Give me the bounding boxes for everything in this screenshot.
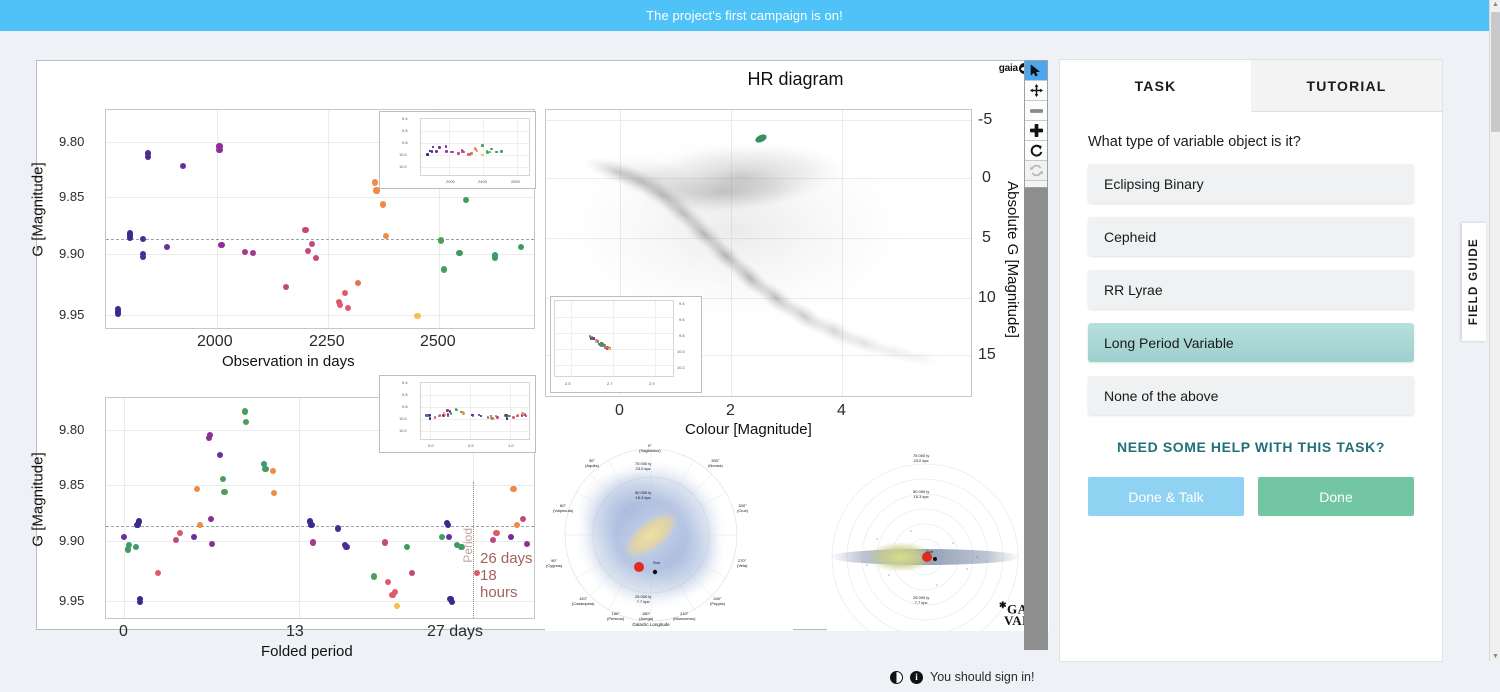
data-point <box>310 539 316 545</box>
answer-option-long-period-variable[interactable]: Long Period Variable <box>1088 323 1414 362</box>
data-point <box>121 534 127 540</box>
done-button[interactable]: Done <box>1258 477 1414 516</box>
data-point <box>490 537 496 543</box>
move-icon <box>1030 84 1043 97</box>
data-point <box>127 235 133 241</box>
data-point <box>207 432 213 438</box>
minus-icon <box>1030 109 1043 113</box>
data-point <box>510 486 516 492</box>
mw-spoke-label-6: 180°(Auriga) <box>639 611 653 621</box>
lightcurve-xtick-1: 2250 <box>309 333 345 351</box>
lightcurve-xtick-2: 2500 <box>420 333 456 351</box>
data-point <box>480 415 482 417</box>
hr-ytick-0: -5 <box>978 111 992 129</box>
data-point <box>431 151 433 153</box>
data-point <box>372 179 378 185</box>
data-point <box>140 236 146 242</box>
done-label: Done <box>1319 489 1352 505</box>
done-and-talk-button[interactable]: Done & Talk <box>1088 477 1244 516</box>
data-point <box>524 541 530 547</box>
data-point <box>500 150 502 152</box>
folded-xtick-0: 0 <box>119 623 128 641</box>
folded-period-plot: G [Magnitude] 9.80 9.85 9.90 9.95 Period… <box>37 361 542 631</box>
data-point <box>434 416 436 418</box>
data-point <box>520 516 526 522</box>
data-point <box>496 416 498 418</box>
zoom-out-button[interactable] <box>1025 101 1047 121</box>
data-point <box>217 452 223 458</box>
data-point <box>445 146 447 148</box>
data-point <box>342 290 348 296</box>
data-point <box>463 197 469 203</box>
data-point <box>451 151 453 153</box>
plus-icon <box>1030 124 1043 137</box>
data-point <box>404 544 410 550</box>
data-point <box>133 544 139 550</box>
mw-spoke-label-3: 90°(Cygnus) <box>546 558 562 568</box>
lightcurve-inset-xtick-1: 2400 <box>478 179 487 184</box>
tab-tutorial-label: TUTORIAL <box>1306 78 1386 94</box>
mw-spoke-label-10: 300°(Crux) <box>737 503 748 513</box>
folded-ytick-2: 9.90 <box>59 533 84 548</box>
data-point <box>383 233 389 239</box>
data-point <box>608 348 611 351</box>
hr-plot-area[interactable]: 9.4 9.6 9.8 10.0 10.2 2.5 2.7 2.9 <box>545 109 972 397</box>
mw-spoke-label-2: 60°(Vulpecula) <box>553 503 573 513</box>
hr-diagram-plot: HR diagram gaia esa <box>542 61 1049 441</box>
data-point <box>493 530 499 536</box>
pan-tool-button[interactable] <box>1025 81 1047 101</box>
data-point <box>343 544 349 550</box>
hr-y-axis-title: Absolute G [Magnitude] <box>1004 181 1021 338</box>
folded-inset-ytick-2: 9.8 <box>402 404 408 409</box>
viewer-toolbar[interactable] <box>1024 60 1048 188</box>
data-point <box>136 518 142 524</box>
data-point <box>414 313 420 319</box>
campaign-banner-text: The project's first campaign is on! <box>646 8 843 23</box>
mw-spoke-label-4: 120°(Cassiopeia) <box>572 596 594 606</box>
data-point <box>457 152 459 154</box>
data-point <box>155 570 161 576</box>
hr-diagram-title: HR diagram <box>542 69 1049 90</box>
data-point <box>432 146 434 148</box>
mw-ring-label-2: 25 000 ly 7.7 kpc <box>635 594 651 604</box>
hr-xtick-0: 0 <box>615 402 624 420</box>
mw-edge-sun-label: Sun <box>926 549 933 554</box>
data-point <box>250 250 256 256</box>
lightcurve-inset: 9.4 9.6 9.8 10.0 10.2 2000 2400 2800 <box>379 111 536 189</box>
data-point <box>218 242 224 248</box>
hr-inset-ytick-2: 9.8 <box>679 333 685 338</box>
tab-task[interactable]: TASK <box>1060 60 1251 112</box>
answer-option-none-of-the-above[interactable]: None of the above <box>1088 376 1414 415</box>
folded-inset-xtick-2: 1.0 <box>508 443 514 448</box>
hr-xtick-2: 4 <box>837 402 846 420</box>
pointer-icon <box>1030 64 1042 77</box>
page-scrollbar[interactable]: ▲ ▼ <box>1489 0 1500 661</box>
data-point <box>490 148 492 150</box>
contrast-icon[interactable] <box>890 671 903 684</box>
subject-viewer[interactable]: G [Magnitude] 9.80 9.85 9.90 9.95 2000 2… <box>36 60 1048 630</box>
data-point <box>392 589 398 595</box>
folded-period-annotation: 26 days 18 hours <box>480 550 534 601</box>
folded-inset-ytick-4: 10.2 <box>399 428 407 433</box>
data-point <box>270 468 276 474</box>
data-point <box>600 343 603 346</box>
mw-spoke-label-0: 0°(Sagittarius) <box>639 443 661 453</box>
data-point <box>441 266 447 272</box>
mw-ring-label-0: 75 000 ly 23.0 kpc <box>635 461 651 471</box>
data-point <box>508 534 514 540</box>
answer-label-1: Cepheid <box>1104 229 1156 245</box>
mw-galactic-longitude-caption: Galactic Longitude <box>625 622 677 627</box>
task-tabs: TASK TUTORIAL <box>1060 60 1442 112</box>
rotate-button[interactable] <box>1025 141 1047 161</box>
folded-x-axis-title: Folded period <box>261 643 353 660</box>
data-point <box>470 152 472 154</box>
folded-inset-ytick-0: 9.4 <box>402 380 408 385</box>
folded-xtick-1: 13 <box>286 623 304 641</box>
data-point <box>514 522 520 528</box>
mw-sun-label: Sun <box>653 560 660 565</box>
lightcurve-xtick-0: 2000 <box>197 333 233 351</box>
scrollbar-thumb[interactable] <box>1491 12 1500 132</box>
answer-option-cepheid[interactable]: Cepheid <box>1088 217 1414 256</box>
done-and-talk-label: Done & Talk <box>1128 489 1203 505</box>
folded-inset: 9.4 9.6 9.8 10.0 10.2 0.0 0.5 1.0 <box>379 375 536 453</box>
mw-spoke-label-8: 240°(Puppis) <box>710 596 725 606</box>
hr-ytick-2: 5 <box>982 229 991 247</box>
data-point <box>145 154 151 160</box>
folded-inset-xtick-0: 0.0 <box>428 443 434 448</box>
field-guide-tab[interactable]: FIELD GUIDE <box>1462 223 1486 341</box>
data-point <box>409 570 415 576</box>
lightcurve-mean-line <box>106 239 534 240</box>
field-guide-label: FIELD GUIDE <box>1468 238 1480 325</box>
zoom-in-button[interactable] <box>1025 121 1047 141</box>
data-point <box>512 416 514 418</box>
folded-xtick-2: 27 days <box>427 623 483 641</box>
folded-ytick-0: 9.80 <box>59 422 84 437</box>
data-point <box>438 146 440 148</box>
data-point <box>242 408 248 414</box>
info-icon[interactable]: i <box>910 671 923 684</box>
data-point <box>456 250 462 256</box>
folded-ytick-3: 9.95 <box>59 593 84 608</box>
lightcurve-ytick-0: 9.80 <box>59 134 84 149</box>
data-point <box>439 414 441 416</box>
data-point <box>462 412 464 414</box>
answer-label-0: Eclipsing Binary <box>1104 176 1204 192</box>
lightcurve-y-axis-title: G [Magnitude] <box>30 162 47 256</box>
lightcurve-inset-xtick-2: 2800 <box>511 179 520 184</box>
data-point <box>481 145 483 147</box>
hr-inset-xtick-2: 2.9 <box>649 381 655 386</box>
data-point <box>191 534 197 540</box>
data-point <box>177 530 183 536</box>
data-point <box>446 534 452 540</box>
folded-inset-ytick-1: 9.6 <box>402 392 408 397</box>
tab-tutorial[interactable]: TUTORIAL <box>1251 60 1442 112</box>
data-point <box>216 147 222 153</box>
folded-inset-ytick-3: 10.0 <box>399 416 407 421</box>
viewer-side-gutter-bottom[interactable] <box>1024 630 1048 650</box>
hr-inset-ytick-4: 10.2 <box>677 365 685 370</box>
lightcurve-inset-ytick-2: 9.8 <box>402 140 408 145</box>
lightcurve-inset-xtick-0: 2000 <box>446 179 455 184</box>
data-point <box>209 541 215 547</box>
viewer-side-gutter[interactable] <box>1024 188 1048 630</box>
data-point <box>525 415 527 417</box>
lightcurve-ytick-2: 9.90 <box>59 246 84 261</box>
gaia-logo-text: gaia <box>999 63 1018 74</box>
hr-ytick-4: 15 <box>978 346 996 364</box>
data-point <box>302 227 308 233</box>
data-point <box>439 534 445 540</box>
milkyway-face-on-panel[interactable]: 0°(Sagittarius) 30°(Aquila) 60°(Vulpecul… <box>545 439 793 631</box>
mw-spoke-label-9: 270°(Vela) <box>737 558 747 568</box>
data-point <box>426 154 428 156</box>
status-bar: i You should sign in! <box>890 662 1034 692</box>
data-point <box>271 490 277 496</box>
data-point <box>337 302 343 308</box>
data-point <box>355 280 361 286</box>
data-point <box>517 414 519 416</box>
rotate-icon <box>1030 144 1043 157</box>
data-point <box>262 466 268 472</box>
folded-mean-line <box>106 526 534 527</box>
mw-ring-label-1: 50 000 ly 15.3 kpc <box>635 490 651 500</box>
data-point <box>481 154 483 156</box>
mw-spoke-label-7: 210°(Monoceros) <box>673 611 695 621</box>
data-point <box>394 603 400 609</box>
campaign-banner: The project's first campaign is on! <box>0 0 1489 31</box>
data-point <box>313 255 319 261</box>
folded-inset-xtick-1: 0.5 <box>468 443 474 448</box>
data-point <box>450 412 452 414</box>
task-question: What type of variable object is it? <box>1088 134 1414 150</box>
mw-edge-ring-label-1: 50 000 ly 15.3 kpc <box>913 489 929 499</box>
help-link[interactable]: NEED SOME HELP WITH THIS TASK? <box>1060 439 1442 455</box>
hr-inset-ytick-3: 10.0 <box>677 349 685 354</box>
data-point <box>444 414 446 416</box>
done-button-row: Done & Talk Done <box>1088 477 1414 516</box>
data-point <box>438 237 444 243</box>
data-point <box>472 415 474 417</box>
status-bar-text: You should sign in! <box>930 670 1034 684</box>
hr-x-axis-title: Colour [Magnitude] <box>685 421 812 438</box>
data-point <box>220 476 226 482</box>
data-point <box>445 522 451 528</box>
hr-inset-xtick-0: 2.5 <box>565 381 571 386</box>
data-point <box>221 489 227 495</box>
data-point <box>126 542 132 548</box>
hr-inset-ytick-1: 9.6 <box>679 317 685 322</box>
scroll-up-arrow-icon[interactable]: ▲ <box>1491 0 1500 9</box>
task-panel: TASK TUTORIAL What type of variable obje… <box>1060 60 1442 661</box>
data-point <box>173 537 179 543</box>
hr-inset-ytick-0: 9.4 <box>679 301 685 306</box>
refresh-icon <box>1030 164 1043 177</box>
data-point <box>371 573 377 579</box>
data-point <box>380 201 386 207</box>
data-point <box>308 522 314 528</box>
reset-button[interactable] <box>1025 161 1047 181</box>
data-point <box>496 151 498 153</box>
answer-label-2: RR Lyrae <box>1104 282 1163 298</box>
data-point <box>137 599 143 605</box>
data-point <box>180 163 186 169</box>
data-point <box>335 525 341 531</box>
hr-inset-xtick-1: 2.7 <box>607 381 613 386</box>
data-point <box>489 151 491 153</box>
folded-y-axis-title: G [Magnitude] <box>30 452 47 546</box>
lightcurve-ytick-3: 9.95 <box>59 307 84 322</box>
lightcurve-inset-ytick-4: 10.2 <box>399 164 407 169</box>
data-point <box>140 254 146 260</box>
lightcurve-inset-ytick-3: 10.0 <box>399 152 407 157</box>
data-point <box>385 579 391 585</box>
data-point <box>208 516 214 522</box>
data-point <box>518 244 524 250</box>
hr-xtick-1: 2 <box>726 402 735 420</box>
lightcurve-inset-ytick-0: 9.4 <box>402 116 408 121</box>
answer-option-eclipsing-binary[interactable]: Eclipsing Binary <box>1088 164 1414 203</box>
data-point <box>197 522 203 528</box>
mw-spoke-label-5: 150°(Perseus) <box>607 611 624 621</box>
gaia-vari-star-icon: ✱ <box>999 600 1007 610</box>
folded-ytick-1: 9.85 <box>59 477 84 492</box>
hr-inset: 9.4 9.6 9.8 10.0 10.2 2.5 2.7 2.9 <box>550 296 702 393</box>
lightcurve-inset-ytick-1: 9.6 <box>402 128 408 133</box>
milkyway-edge-on-panel[interactable]: 75 000 ly 23.0 kpc 50 000 ly 15.3 kpc 25… <box>827 439 1049 631</box>
data-point <box>115 310 121 316</box>
hr-ytick-3: 10 <box>978 289 996 307</box>
data-point <box>458 544 464 550</box>
data-point <box>476 150 478 152</box>
mw-spoke-label-1: 30°(Aquila) <box>585 458 599 468</box>
pointer-tool-button[interactable] <box>1025 61 1047 81</box>
tab-task-label: TASK <box>1135 78 1177 94</box>
data-point <box>447 415 449 417</box>
scroll-down-arrow-icon[interactable]: ▼ <box>1491 652 1500 661</box>
data-point <box>449 599 455 605</box>
hr-ytick-1: 0 <box>982 169 991 187</box>
data-point <box>435 150 437 152</box>
data-point <box>194 486 200 492</box>
data-point <box>445 150 447 152</box>
answer-label-4: None of the above <box>1104 388 1218 404</box>
data-point <box>463 151 465 153</box>
data-point <box>345 305 351 311</box>
data-point <box>309 241 315 247</box>
main-content: G [Magnitude] 9.80 9.85 9.90 9.95 2000 2… <box>0 31 1489 661</box>
lightcurve-ytick-1: 9.85 <box>59 189 84 204</box>
mw-spoke-label-11: 330°(Norma) <box>708 458 723 468</box>
data-point <box>243 419 249 425</box>
data-point <box>164 244 170 250</box>
mw-edge-ring-label-2: 25 000 ly 7.7 kpc <box>913 595 929 605</box>
answer-label-3: Long Period Variable <box>1104 335 1234 351</box>
data-point <box>492 255 498 261</box>
data-point <box>382 539 388 545</box>
lightcurve-plot: G [Magnitude] 9.80 9.85 9.90 9.95 2000 2… <box>37 61 542 361</box>
answer-option-rr-lyrae[interactable]: RR Lyrae <box>1088 270 1414 309</box>
mw-edge-ring-label-0: 75 000 ly 23.0 kpc <box>913 453 929 463</box>
data-point <box>283 284 289 290</box>
data-point <box>455 409 457 411</box>
